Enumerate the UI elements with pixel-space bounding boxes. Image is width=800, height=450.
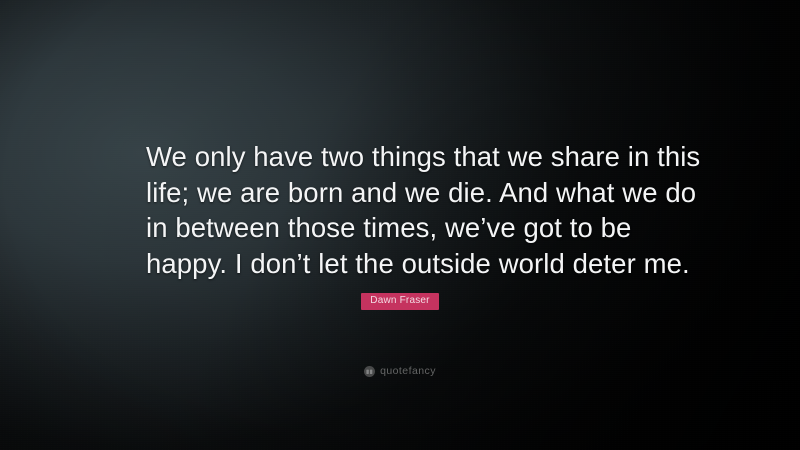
quote-line-3: in between those times, we’ve got to be xyxy=(146,210,666,246)
quote-line-4: happy. I don’t let the outside world det… xyxy=(146,246,666,282)
quote-poster: We only have two things that we share in… xyxy=(0,0,800,450)
quote-line-2: life; we are born and we die. And what w… xyxy=(146,175,666,211)
author-attribution: Dawn Fraser xyxy=(0,290,800,310)
quotefancy-brand-label: quotefancy xyxy=(380,366,436,377)
quote-line-1: We only have two things that we share in… xyxy=(146,139,666,175)
quote-text-block: We only have two things that we share in… xyxy=(146,139,666,281)
poster-content: We only have two things that we share in… xyxy=(0,0,800,450)
author-name-badge[interactable]: Dawn Fraser xyxy=(361,293,438,310)
quote-mark-circle-icon xyxy=(364,366,375,377)
quotefancy-watermark[interactable]: quotefancy xyxy=(0,366,800,377)
